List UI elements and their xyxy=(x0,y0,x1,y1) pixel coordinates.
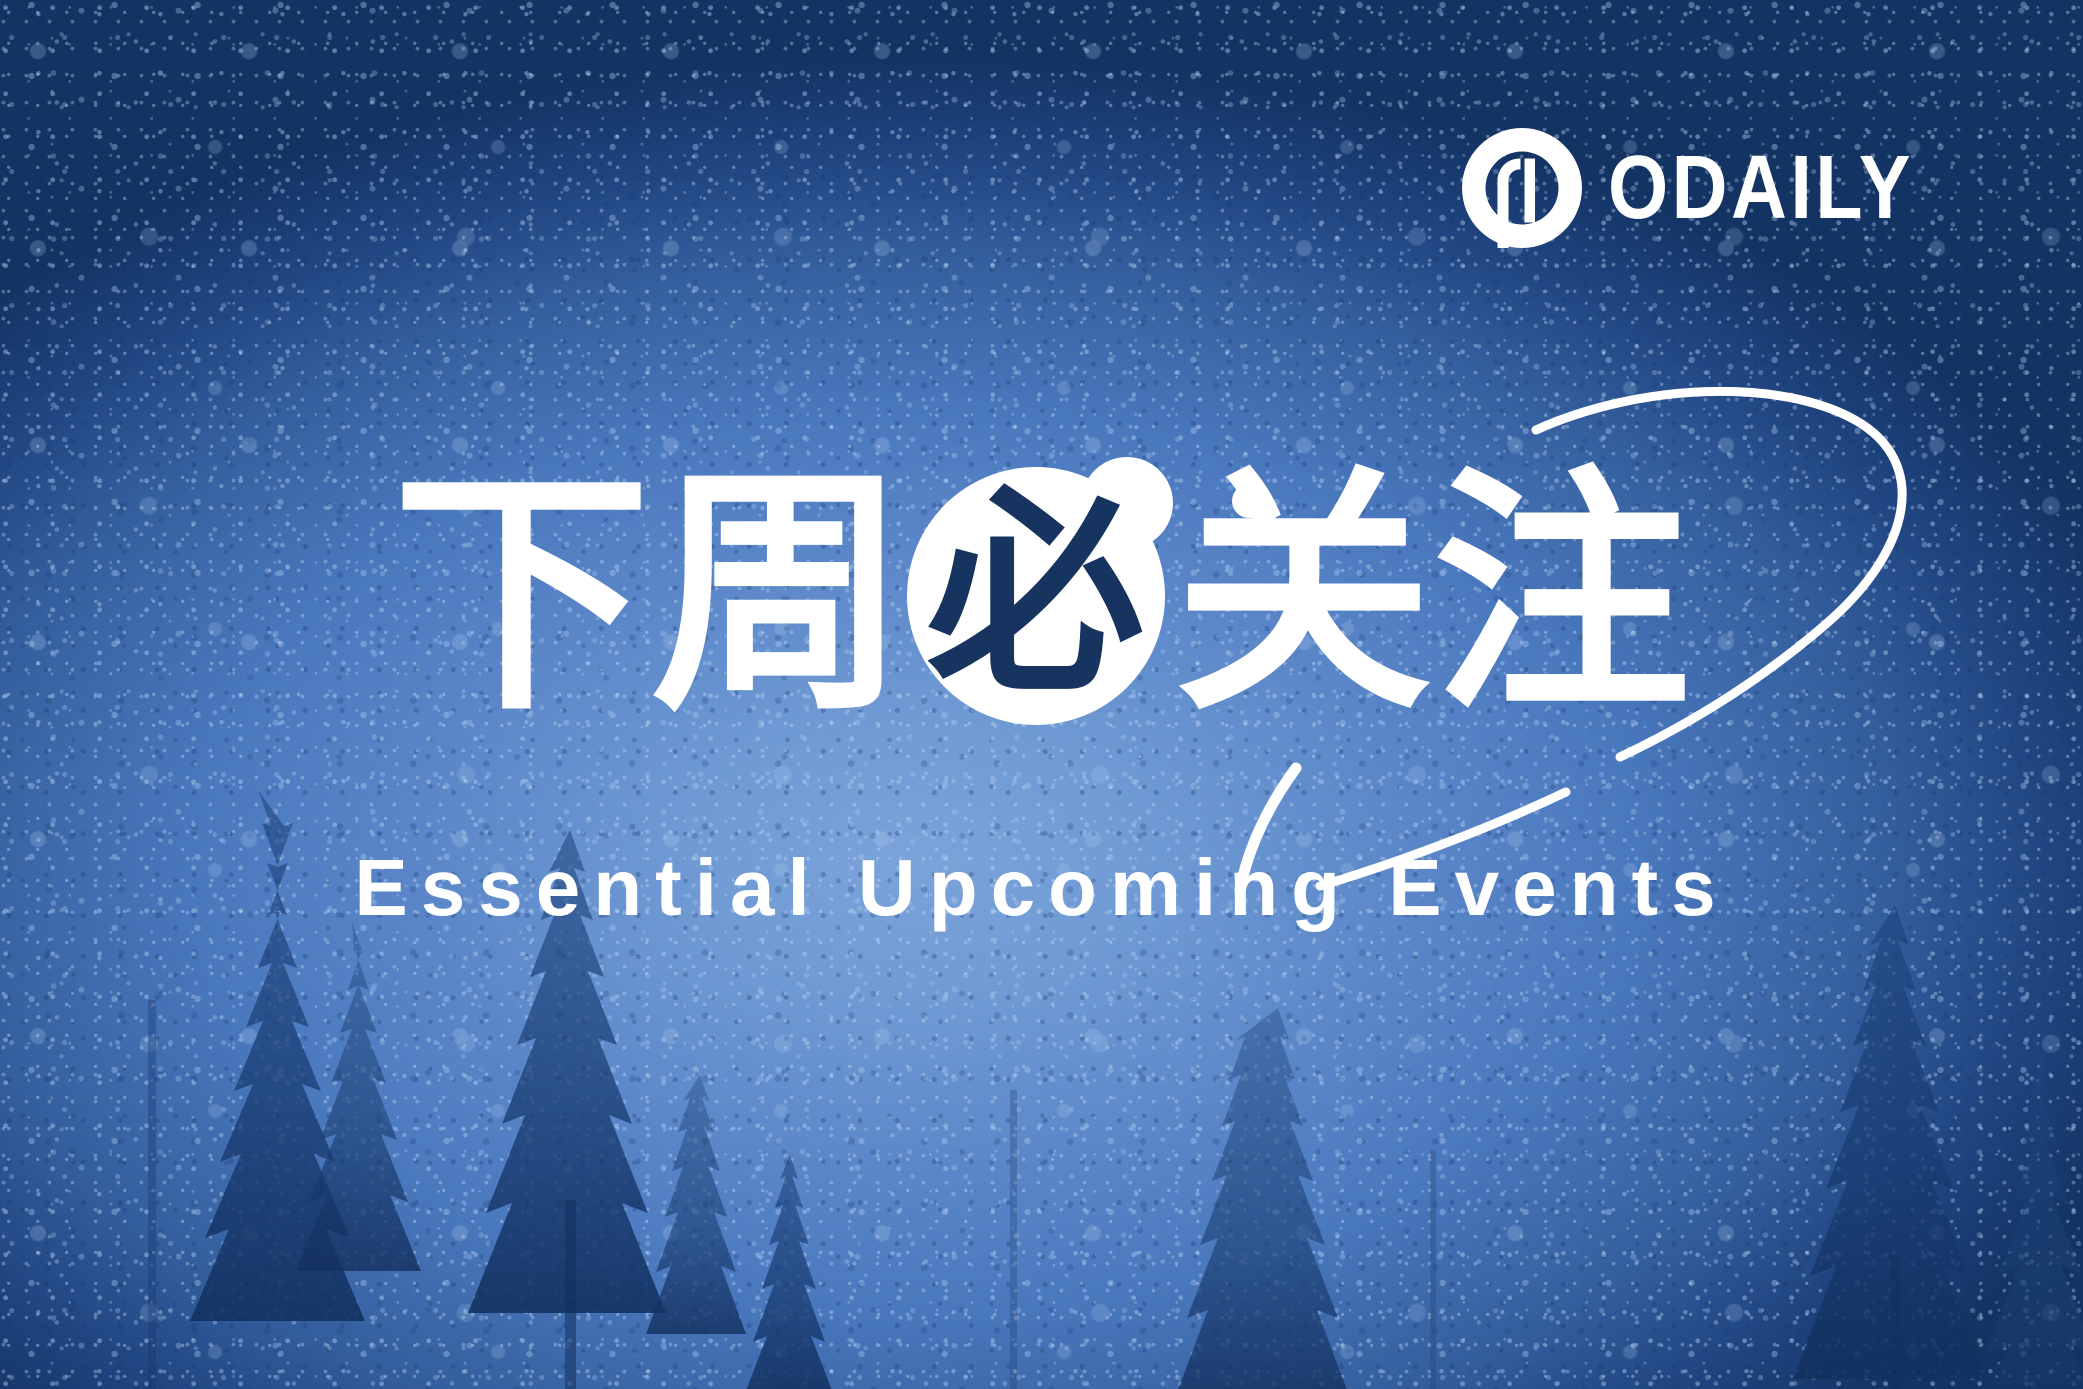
odaily-wordmark: ODAILY xyxy=(1608,143,1914,233)
emblem-char-bi: 必 xyxy=(907,467,1165,725)
small-star-dot-icon xyxy=(1232,484,1266,518)
headline-char-xia: 下 xyxy=(393,466,651,724)
headline-char-zhou: 周 xyxy=(651,466,909,724)
headline-chars-before-emblem: 下 周 xyxy=(393,466,909,724)
headline-emblem-bi: 必 xyxy=(907,461,1175,729)
poster-canvas: ODAILY 下 周 必 关 注 Essential Upcoming Even… xyxy=(0,0,2083,1389)
odaily-circular-p-mark xyxy=(1462,128,1582,248)
subtitle-text: Essential Upcoming Events xyxy=(0,848,2083,928)
headline-char-zhu: 注 xyxy=(1433,466,1691,724)
headline-row: 下 周 必 关 注 xyxy=(0,470,2083,720)
headline-char-guan: 关 xyxy=(1175,466,1433,724)
odaily-logo[interactable]: ODAILY xyxy=(1462,128,1964,248)
